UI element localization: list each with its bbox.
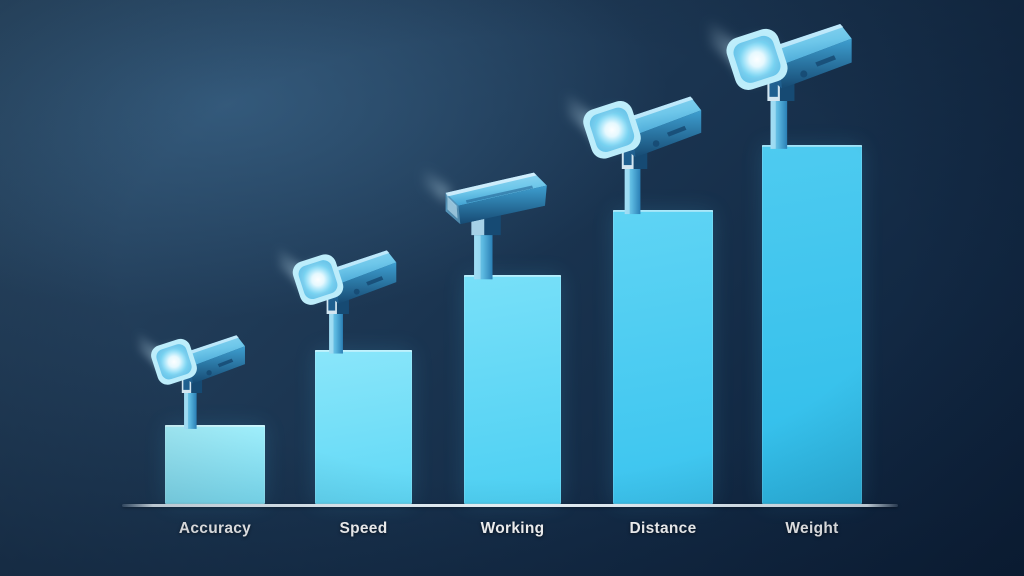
bar-working[interactable]: [464, 275, 561, 504]
camera-working: [418, 145, 556, 283]
bar-label-weight: Weight: [722, 520, 902, 538]
camera-light-beam: [421, 165, 449, 202]
camera-weight: [705, 0, 861, 153]
illustration-canvas: AccuracySpeedWorkingDistanceWeight: [0, 0, 1024, 576]
camera-mount-pole: [767, 78, 794, 149]
bar-weight[interactable]: [762, 145, 862, 504]
bar-distance[interactable]: [613, 210, 713, 504]
cctv-camera-icon: [418, 145, 556, 283]
camera-mount-pole: [621, 147, 646, 214]
cctv-camera-icon: [135, 315, 252, 432]
camera-mount-pole: [327, 296, 349, 354]
camera-speed: [275, 228, 404, 357]
bar-accuracy[interactable]: [165, 425, 265, 504]
camera-distance: [563, 71, 710, 218]
cctv-camera-icon: [705, 0, 861, 153]
x-axis-baseline: [122, 504, 898, 507]
bar-speed[interactable]: [315, 350, 412, 504]
cctv-camera-icon: [275, 228, 404, 357]
camera-mount-pole: [181, 376, 201, 429]
camera-accuracy: [135, 315, 252, 432]
cctv-camera-icon: [563, 71, 710, 218]
camera-mount-pole: [471, 213, 500, 279]
